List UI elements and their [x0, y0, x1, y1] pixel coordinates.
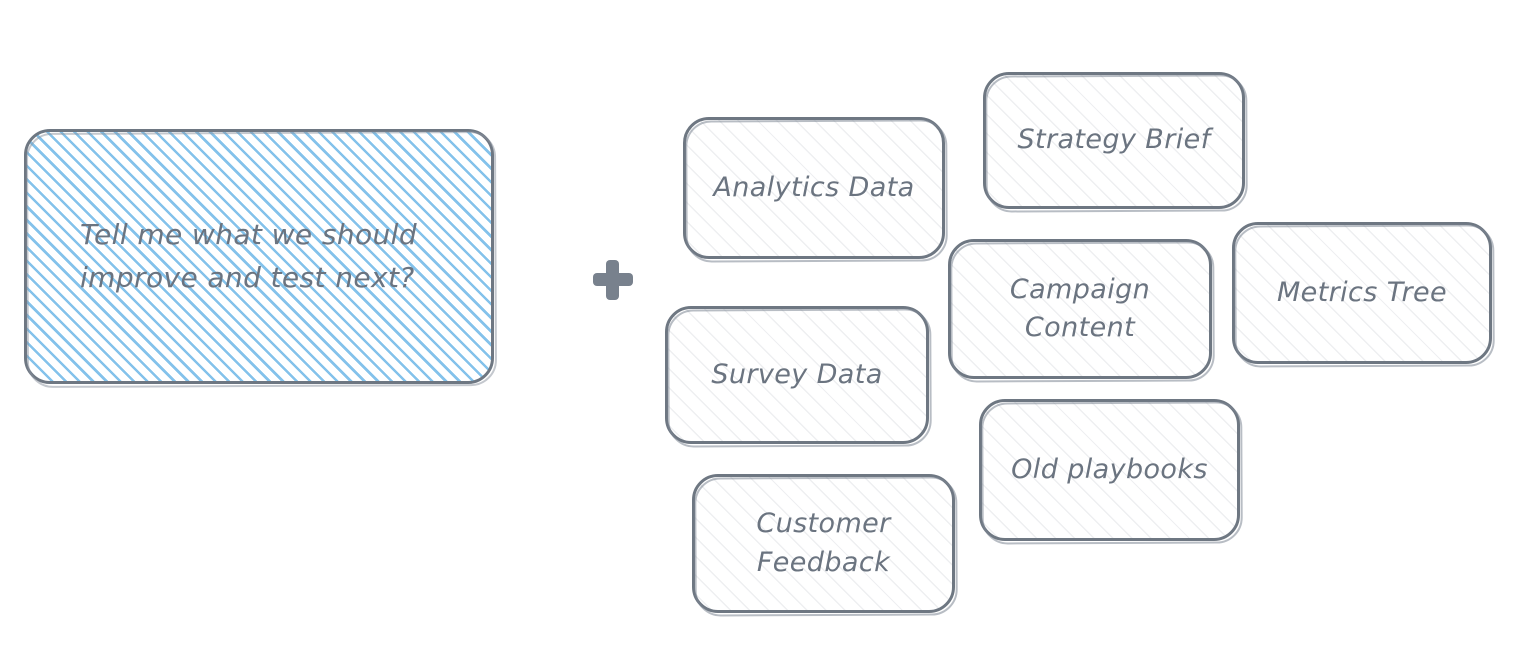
card-label: Survey Data: [711, 356, 882, 394]
prompt-card-label: Tell me what we should improve and test …: [80, 214, 417, 299]
card-label: Metrics Tree: [1277, 274, 1447, 312]
diagram-canvas: Tell me what we should improve and test …: [0, 0, 1524, 646]
resource-card-analytics-data[interactable]: Analytics Data: [683, 117, 945, 259]
card-label: Customer Feedback: [756, 505, 890, 582]
plus-icon: [591, 256, 635, 304]
resource-card-metrics-tree[interactable]: Metrics Tree: [1232, 222, 1492, 364]
plus-icon-vertical-bar: [606, 260, 619, 300]
card-label: Analytics Data: [713, 169, 914, 207]
card-label: Strategy Brief: [1017, 121, 1210, 159]
card-label: Old playbooks: [1011, 451, 1208, 489]
card-label: Campaign Content: [1010, 271, 1150, 348]
resource-card-strategy-brief[interactable]: Strategy Brief: [983, 72, 1245, 209]
prompt-card[interactable]: Tell me what we should improve and test …: [24, 129, 494, 384]
resource-card-old-playbooks[interactable]: Old playbooks: [979, 399, 1240, 541]
resource-card-survey-data[interactable]: Survey Data: [665, 306, 929, 444]
resource-card-customer-feedback[interactable]: Customer Feedback: [692, 474, 955, 613]
resource-card-campaign-content[interactable]: Campaign Content: [948, 239, 1212, 379]
